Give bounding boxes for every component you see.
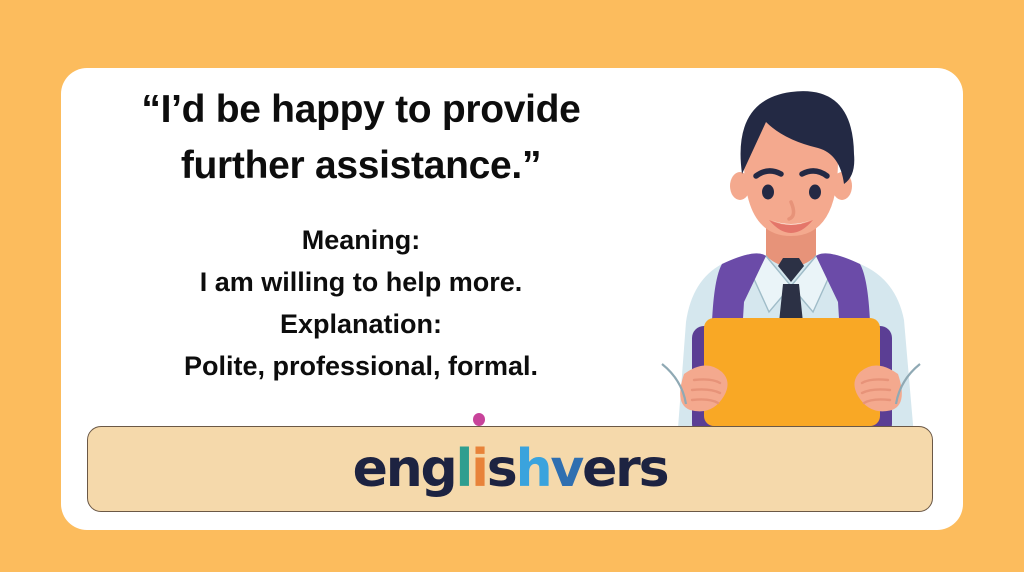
- page-title: “I’d be happy to provide further assista…: [81, 82, 641, 194]
- logo-segment-eng: eng: [353, 443, 456, 495]
- brand-logo: eng l i s h v ers: [353, 443, 668, 495]
- explanation-text: Polite, professional, formal.: [81, 346, 641, 388]
- logo-segment-l: l: [456, 443, 472, 495]
- poster-stage: “I’d be happy to provide further assista…: [0, 0, 1024, 572]
- logo-segment-s: s: [487, 443, 516, 495]
- meaning-text: I am willing to help more.: [81, 262, 641, 304]
- explanation-label: Explanation:: [81, 304, 641, 346]
- content-card: “I’d be happy to provide further assista…: [61, 68, 963, 530]
- meaning-label: Meaning:: [81, 220, 641, 262]
- logo-segment-ers: ers: [582, 443, 667, 495]
- logo-segment-v: v: [550, 443, 582, 495]
- illustration-smiling-man-holding-clipboard: [626, 68, 956, 436]
- logo-segment-h: h: [516, 443, 551, 495]
- text-column: “I’d be happy to provide further assista…: [81, 82, 641, 388]
- logo-segment-i: i: [471, 443, 487, 495]
- logo-banner: eng l i s h v ers: [87, 426, 933, 512]
- meaning-explanation-block: Meaning: I am willing to help more. Expl…: [81, 220, 641, 387]
